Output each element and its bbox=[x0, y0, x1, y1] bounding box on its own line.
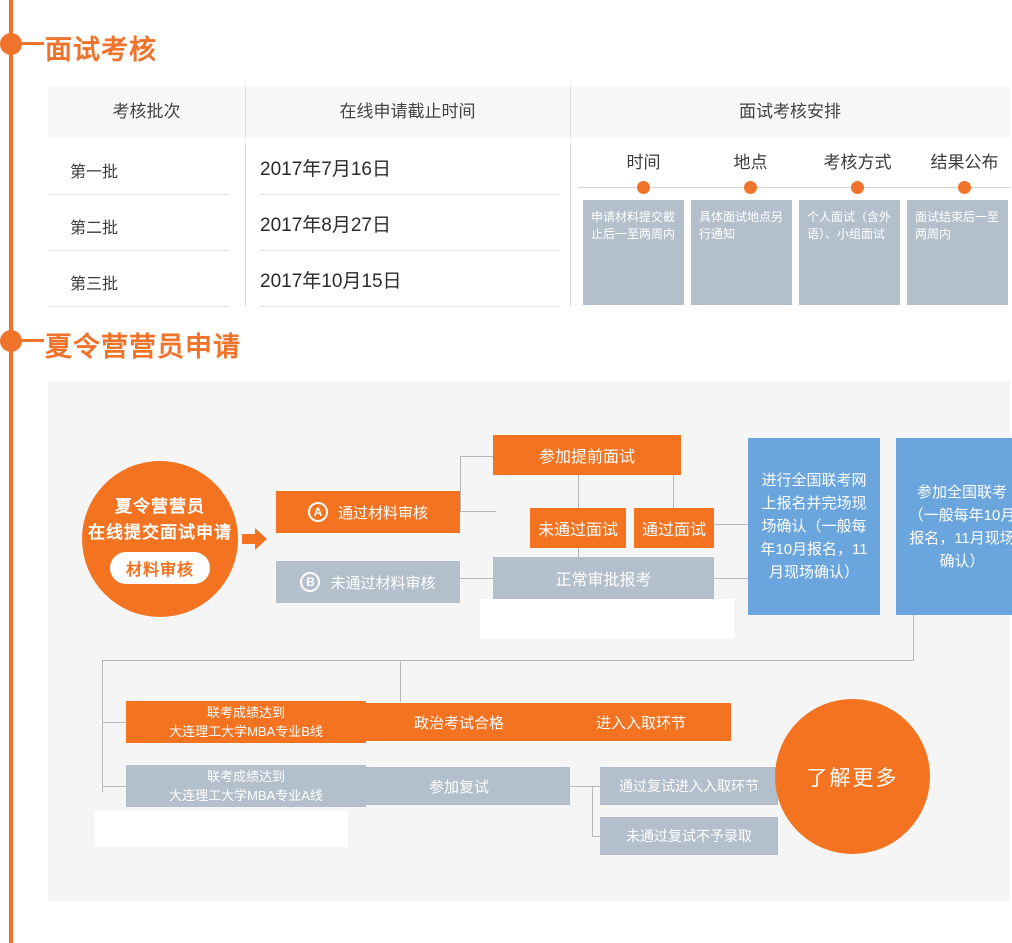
connector-retest-fail bbox=[592, 836, 600, 837]
branch-a-label: 通过材料审核 bbox=[338, 502, 428, 523]
deadline-rule-1 bbox=[260, 194, 560, 195]
interview-failed-box[interactable]: 未通过面试 bbox=[530, 508, 626, 548]
table-header-batch: 考核批次 bbox=[48, 86, 245, 138]
table-cell-batch-2: 第二批 bbox=[70, 214, 118, 238]
retest-fail-label: 未通过复试不予录取 bbox=[626, 826, 752, 846]
retest-pass-label: 通过复试进入入取环节 bbox=[619, 776, 759, 796]
table-cell-deadline-1: 2017年7月16日 bbox=[260, 154, 391, 181]
interview-failed-label: 未通过面试 bbox=[538, 516, 618, 540]
timeline-label-location: 地点 bbox=[697, 148, 804, 173]
connector-bottom-bus bbox=[102, 660, 914, 661]
attend-early-interview-label: 参加提前面试 bbox=[539, 443, 635, 467]
politics-exam-label: 政治考试合格 bbox=[414, 712, 504, 733]
body-divider-2 bbox=[570, 144, 571, 306]
attend-early-interview-box[interactable]: 参加提前面试 bbox=[493, 435, 681, 475]
retest-pass-box[interactable]: 通过复试进入入取环节 bbox=[600, 767, 778, 805]
interview-passed-label: 通过面试 bbox=[642, 516, 706, 540]
timeline-box-time: 申请材料提交截止后一至两周内 bbox=[583, 200, 684, 305]
branch-b-box[interactable]: B 未通过材料审核 bbox=[276, 561, 460, 603]
national-exam-attend-label: 参加全国联考（一般每年10月报名，11月现场确认） bbox=[908, 481, 1012, 573]
national-exam-attend-box[interactable]: 参加全国联考（一般每年10月报名，11月现场确认） bbox=[896, 438, 1012, 615]
connector-blueright-down bbox=[913, 615, 914, 660]
table-cell-deadline-2: 2017年8月27日 bbox=[260, 210, 391, 237]
table-cell-deadline-3: 2017年10月15日 bbox=[260, 266, 402, 293]
batch-rule-1 bbox=[48, 194, 230, 195]
deadline-rule-3 bbox=[260, 306, 560, 307]
connector-retest-pass bbox=[592, 786, 600, 787]
score-line-a-line2: 大连理工大学MBA专业A线 bbox=[169, 786, 323, 805]
table-header-deadline: 在线申请截止时间 bbox=[245, 86, 570, 138]
page-title-interview: 面试考核 bbox=[45, 28, 157, 67]
body-divider-1 bbox=[245, 144, 246, 306]
start-node-line2: 在线提交面试申请 bbox=[88, 520, 232, 546]
timeline-box-location: 具体面试地点另行通知 bbox=[691, 200, 792, 305]
learn-more-button[interactable]: 了解更多 bbox=[775, 699, 930, 854]
white-patch-bottom-left bbox=[94, 811, 348, 847]
rail-stem-section-2 bbox=[20, 339, 44, 342]
connector-mid-drop bbox=[400, 660, 401, 702]
branch-a-box[interactable]: A 通过材料审核 bbox=[276, 491, 460, 533]
score-line-b-line2: 大连理工大学MBA专业B线 bbox=[169, 722, 323, 741]
retest-box[interactable]: 参加复试 bbox=[348, 767, 570, 805]
timeline-label-method: 考核方式 bbox=[804, 148, 911, 173]
table-cell-batch-1: 第一批 bbox=[70, 158, 118, 182]
start-node-line1: 夏令营营员 bbox=[115, 494, 205, 520]
retest-fail-box[interactable]: 未通过复试不予录取 bbox=[600, 817, 778, 855]
branch-a-badge: A bbox=[308, 502, 328, 522]
page-root: 面试考核 夏令营营员申请 考核批次 在线申请截止时间 面试考核安排 第一批 第二… bbox=[0, 0, 1012, 943]
start-node-pill: 材料审核 bbox=[110, 552, 210, 584]
score-line-b-line1: 联考成绩达到 bbox=[207, 703, 285, 722]
rail-dot-section-2 bbox=[0, 330, 22, 352]
start-node-circle[interactable]: 夏令营营员 在线提交面试申请 材料审核 bbox=[82, 461, 238, 617]
timeline-box-method: 个人面试（含外语）、小组面试 bbox=[799, 200, 900, 305]
timeline-dot-1 bbox=[637, 181, 650, 194]
connector-b-to-normal bbox=[460, 578, 496, 579]
connector-retest-out bbox=[570, 786, 592, 787]
batch-rule-3 bbox=[48, 306, 230, 307]
enter-admission-label: 进入入取环节 bbox=[596, 712, 686, 733]
deadline-rule-2 bbox=[260, 250, 560, 251]
learn-more-label: 了解更多 bbox=[807, 762, 899, 792]
flowchart-canvas: 夏令营营员 在线提交面试申请 材料审核 A 通过材料审核 B 未通过材料审核 参… bbox=[48, 381, 1010, 901]
timeline-dot-3 bbox=[851, 181, 864, 194]
national-exam-register-label: 进行全国联考网上报名并完场现场确认（一般每年10月报名，11月现场确认） bbox=[760, 469, 868, 584]
header-divider-1 bbox=[245, 86, 246, 138]
connector-to-score-a bbox=[102, 786, 126, 787]
normal-application-box[interactable]: 正常审批报考 bbox=[493, 557, 714, 599]
connector-a-vert bbox=[460, 456, 461, 512]
score-line-a-box[interactable]: 联考成绩达到 大连理工大学MBA专业A线 bbox=[126, 765, 366, 807]
batch-rule-2 bbox=[48, 250, 230, 251]
rail-stem-section-1 bbox=[20, 42, 44, 45]
score-line-b-box[interactable]: 联考成绩达到 大连理工大学MBA专业B线 bbox=[126, 701, 366, 743]
connector-a-top bbox=[460, 456, 493, 457]
branch-b-badge: B bbox=[300, 572, 320, 592]
timeline-label-time: 时间 bbox=[590, 148, 697, 173]
connector-a-to-interview bbox=[460, 511, 496, 512]
branch-b-label: 未通过材料审核 bbox=[330, 572, 435, 593]
left-rail bbox=[9, 0, 13, 943]
header-divider-2 bbox=[570, 86, 571, 138]
politics-exam-box[interactable]: 政治考试合格 bbox=[348, 703, 570, 741]
national-exam-register-box[interactable]: 进行全国联考网上报名并完场现场确认（一般每年10月报名，11月现场确认） bbox=[748, 438, 880, 615]
table-cell-batch-3: 第三批 bbox=[70, 270, 118, 294]
enter-admission-box[interactable]: 进入入取环节 bbox=[551, 703, 731, 741]
interview-passed-box[interactable]: 通过面试 bbox=[634, 508, 714, 548]
interview-schedule-table: 考核批次 在线申请截止时间 面试考核安排 第一批 第二批 第三批 2017年7月… bbox=[48, 86, 1010, 306]
connector-interview-to-pass bbox=[673, 475, 674, 508]
table-header-arrangement: 面试考核安排 bbox=[570, 86, 1010, 138]
normal-application-label: 正常审批报考 bbox=[555, 566, 651, 590]
score-line-a-line1: 联考成绩达到 bbox=[207, 767, 285, 786]
connector-interview-to-fail bbox=[578, 475, 579, 508]
retest-label: 参加复试 bbox=[429, 776, 489, 797]
page-title-camp-application: 夏令营营员申请 bbox=[45, 325, 241, 364]
timeline-box-results: 面试结束后一至两周内 bbox=[907, 200, 1008, 305]
timeline-dot-2 bbox=[744, 181, 757, 194]
timeline-label-results: 结果公布 bbox=[911, 148, 1012, 173]
rail-dot-section-1 bbox=[0, 33, 22, 55]
timeline-dot-4 bbox=[958, 181, 971, 194]
white-patch-mid bbox=[480, 599, 734, 639]
connector-retest-split bbox=[592, 786, 593, 836]
connector-to-score-b bbox=[102, 722, 126, 723]
connector-bottom-left-down bbox=[102, 660, 103, 792]
arrow-right-icon bbox=[242, 528, 268, 550]
